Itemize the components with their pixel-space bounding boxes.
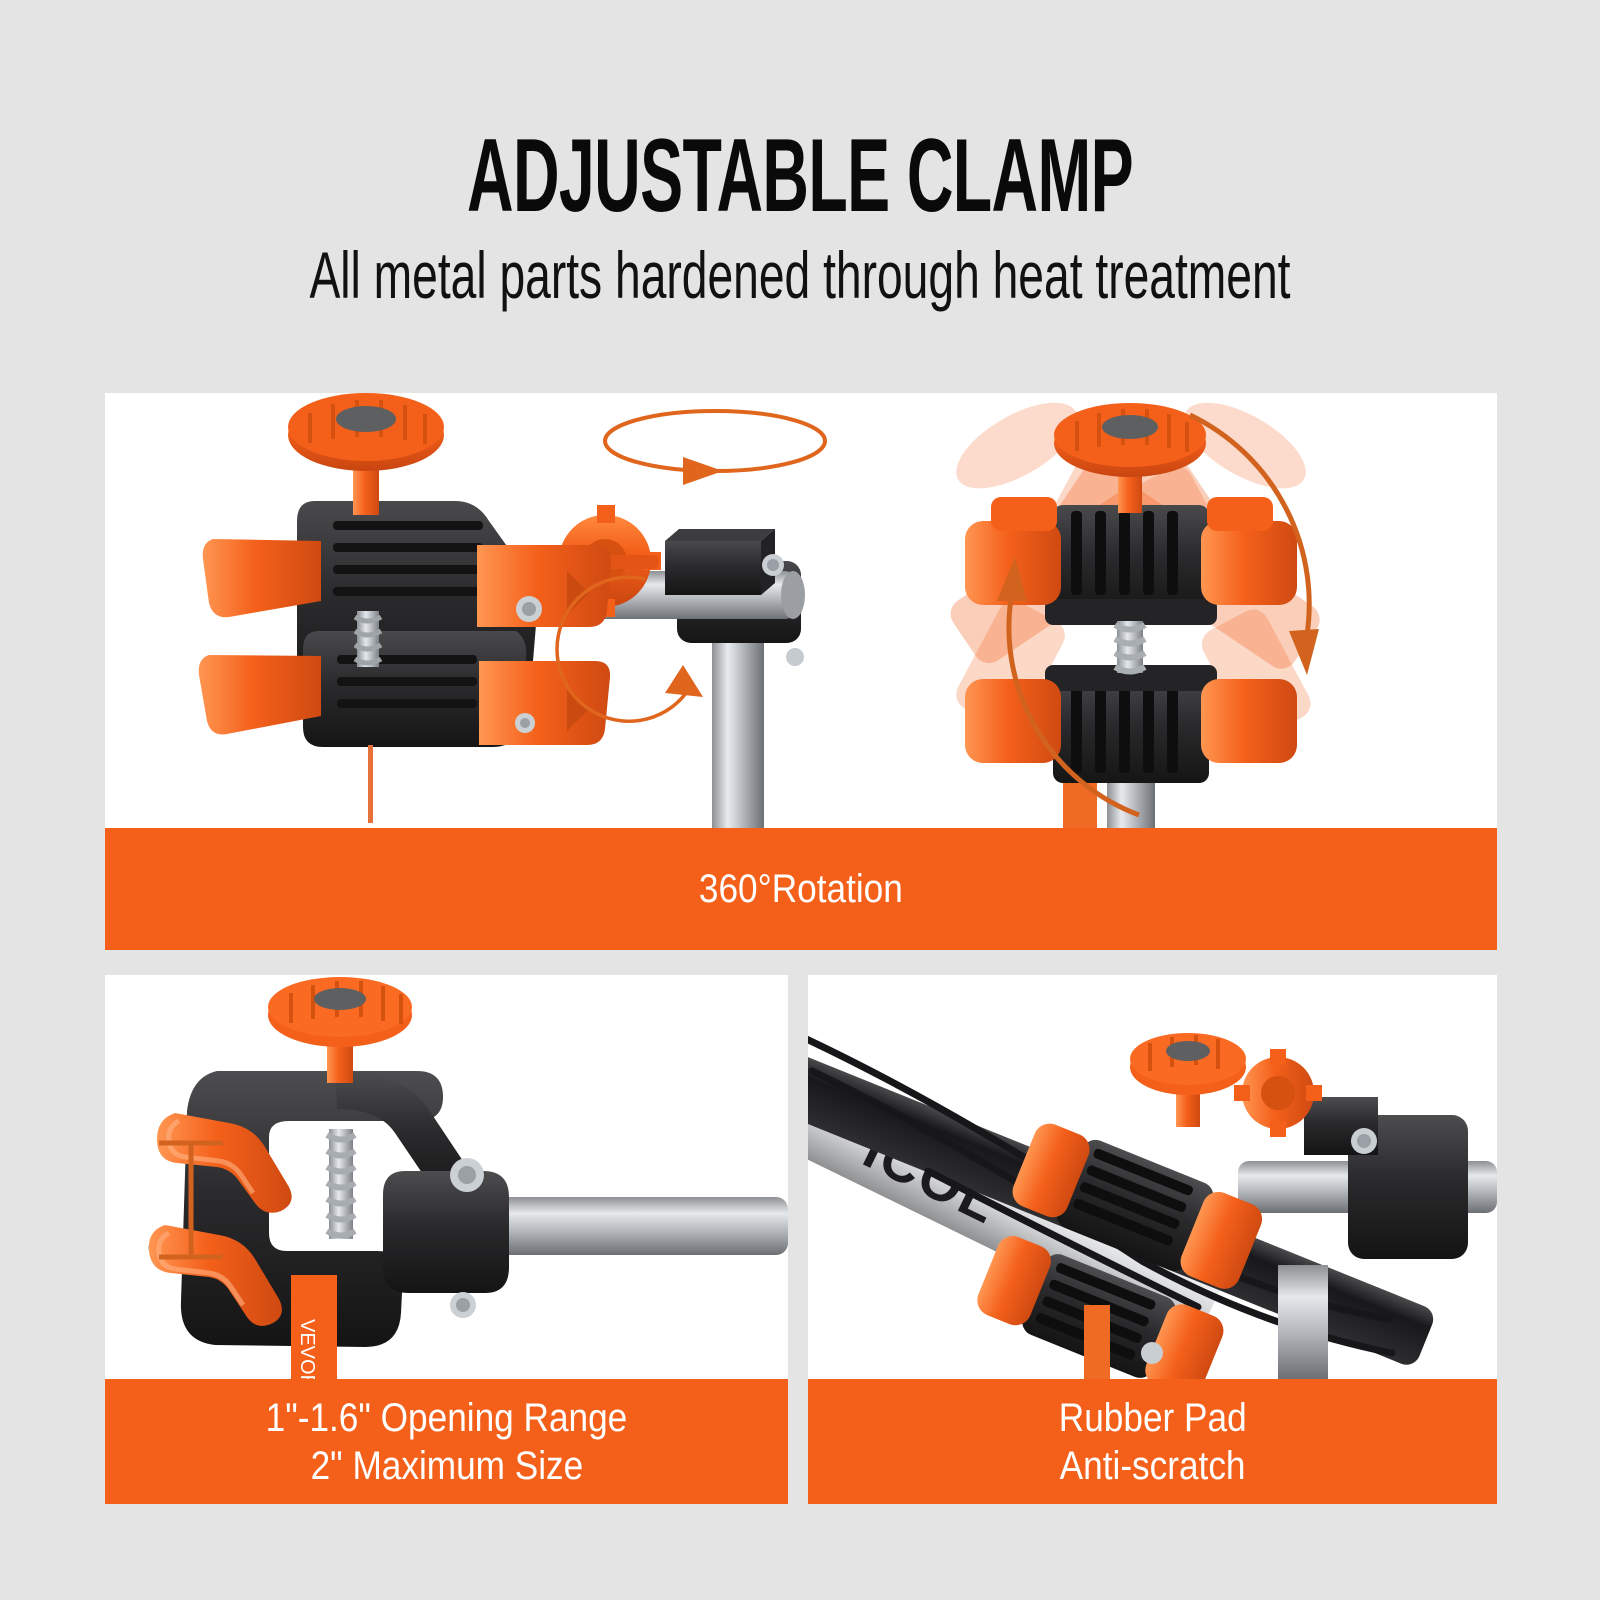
header: ADJUSTABLE CLAMP All metal parts hardene… <box>0 0 1600 360</box>
rubber-pad <box>1201 679 1297 763</box>
caption-line: Anti-scratch <box>1060 1442 1246 1490</box>
opening-range-caption-bar: 1"-1.6" Opening Range 2" Maximum Size <box>105 1379 788 1504</box>
rubber-pad <box>965 679 1061 763</box>
rubber-pad <box>1201 521 1297 605</box>
rubber-pad-illustration: ICOL C-86 <box>808 975 1497 1379</box>
opening-range-panel: VEVOR 1"-1.6" 1"-1.6" Opening Range 2" M… <box>105 975 788 1504</box>
rubber-pad-photo: ICOL C-86 <box>808 975 1497 1379</box>
page-subtitle: All metal parts hardened through heat tr… <box>240 242 1360 308</box>
rotation-panel: 360° 360°Rotation <box>105 393 1497 950</box>
opening-range-illustration: VEVOR <box>105 975 788 1379</box>
rubber-pad-panel: ICOL C-86 <box>808 975 1497 1504</box>
opening-range-photo: VEVOR <box>105 975 788 1379</box>
compression-screw <box>327 1129 355 1239</box>
hang-tag: VEVOR <box>291 1275 337 1379</box>
rotation-caption-bar: 360°Rotation <box>105 828 1497 950</box>
page-title: ADJUSTABLE CLAMP <box>304 124 1296 228</box>
rotation-photo <box>105 393 1497 828</box>
compression-screw <box>355 611 381 667</box>
hang-tag <box>1084 1305 1110 1379</box>
caption-line: 2" Maximum Size <box>310 1442 583 1490</box>
rubber-pad <box>479 661 610 745</box>
caption-line: 360°Rotation <box>699 865 903 913</box>
infographic-page: ADJUSTABLE CLAMP All metal parts hardene… <box>0 0 1600 1600</box>
caption-line: 1"-1.6" Opening Range <box>266 1394 628 1442</box>
rubber-pad-caption-bar: Rubber Pad Anti-scratch <box>808 1379 1497 1504</box>
stand-post <box>1278 1265 1328 1379</box>
compression-spring <box>1115 621 1145 673</box>
rubber-pad <box>477 545 611 627</box>
svg-text:VEVOR: VEVOR <box>296 1319 318 1379</box>
rotation-illustration <box>105 393 1497 828</box>
caption-line: Rubber Pad <box>1059 1394 1247 1442</box>
clamp-assembly-right <box>943 393 1326 828</box>
